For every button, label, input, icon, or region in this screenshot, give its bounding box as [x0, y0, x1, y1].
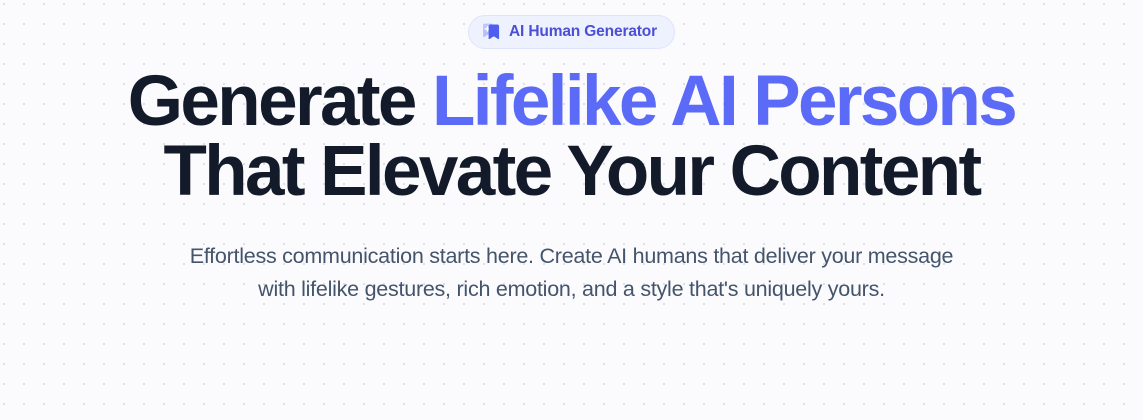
page-subtitle: Effortless communication starts here. Cr…	[190, 240, 954, 305]
subtitle-line-1: Effortless communication starts here. Cr…	[190, 240, 954, 273]
headline-accent-text: Lifelike AI Persons	[432, 62, 1015, 141]
headline-line-2: That Elevate Your Content	[0, 137, 1143, 207]
badge-label: AI Human Generator	[509, 24, 657, 40]
subtitle-line-2: with lifelike gestures, rich emotion, an…	[190, 273, 954, 306]
headline-plain-text: Generate	[128, 62, 432, 141]
ai-human-generator-badge[interactable]: AI Human Generator	[468, 15, 675, 49]
headline-line-1: Generate Lifelike AI Persons	[0, 67, 1143, 137]
ai-human-bookmark-plus-icon	[480, 21, 502, 43]
hero-section: AI Human Generator Generate Lifelike AI …	[0, 0, 1143, 420]
badge-icon-wrapper	[480, 21, 502, 43]
page-title: Generate Lifelike AI Persons That Elevat…	[0, 67, 1143, 206]
